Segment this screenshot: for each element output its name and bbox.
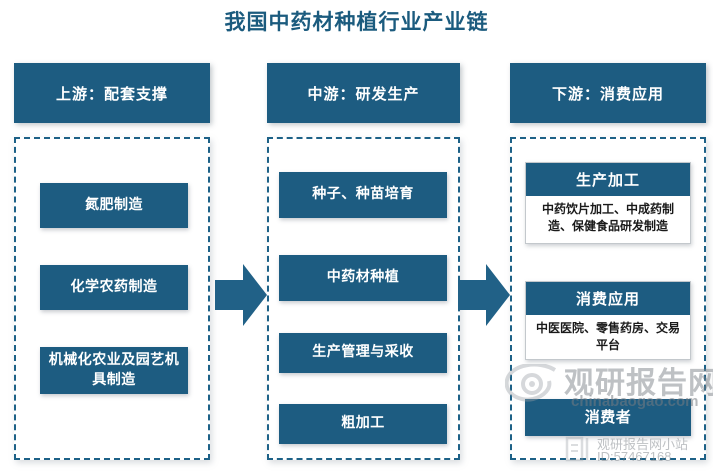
midstream-item-2: 生产管理与采收 [279,333,447,373]
stage-header-midstream: 中游：研发生产 [267,63,460,123]
downstream-item-consumer: 消费者 [525,399,691,436]
midstream-item-3: 粗加工 [279,404,447,444]
infographic-canvas: 我国中药材种植行业产业链 上游：配套支撑 中游：研发生产 下游：消费应用 氮肥制… [0,0,713,475]
page-title: 我国中药材种植行业产业链 [0,8,713,36]
downstream-card-1-title: 消费应用 [526,282,690,315]
downstream-card-0: 生产加工 中药饮片加工、中成药制造、保健食品研发制造 [525,162,691,244]
downstream-card-0-body: 中药饮片加工、中成药制造、保健食品研发制造 [526,196,690,241]
stage-header-downstream: 下游：消费应用 [510,63,706,123]
stage-header-upstream: 上游：配套支撑 [14,63,210,123]
midstream-item-1: 中药材种植 [279,255,447,301]
midstream-item-0: 种子、种苗培育 [279,172,447,218]
downstream-card-1: 消费应用 中医医院、零售药房、交易平台 [525,281,691,360]
downstream-card-1-body: 中医医院、零售药房、交易平台 [526,315,690,360]
upstream-item-2: 机械化农业及园艺机具制造 [40,347,188,394]
upstream-item-1: 化学农药制造 [40,265,188,310]
arrow-right-icon [215,262,267,328]
upstream-item-0: 氮肥制造 [40,183,188,228]
downstream-card-0-title: 生产加工 [526,163,690,196]
arrow-right-icon [458,262,510,328]
